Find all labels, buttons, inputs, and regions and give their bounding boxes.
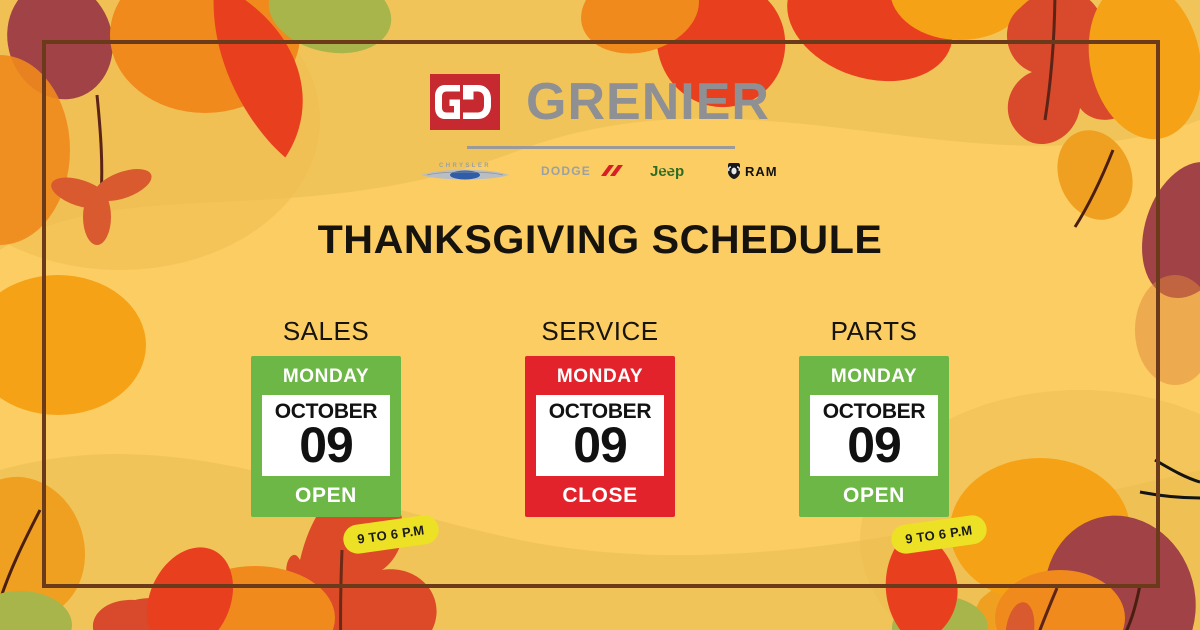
svg-text:CHRYSLER: CHRYSLER — [439, 163, 491, 169]
calendar-sales: MONDAY OCTOBER 09 OPEN — [251, 356, 401, 517]
status-badge-parts: OPEN — [843, 484, 905, 508]
schedule-card-parts: PARTS MONDAY OCTOBER 09 OPEN 9 TO 6 P.M — [769, 316, 979, 517]
brand-ram: RAM — [721, 161, 783, 181]
hours-badge-sales: 9 TO 6 P.M — [342, 513, 441, 555]
calendar-service: MONDAY OCTOBER 09 CLOSE — [525, 356, 675, 517]
brand-chrysler: CHRYSLER — [417, 160, 513, 182]
svg-text:RAM: RAM — [745, 164, 778, 179]
department-label-sales: SALES — [283, 316, 369, 347]
dodge-stripes-icon: DODGE — [539, 162, 623, 180]
dealership-logo: GRENIER — [0, 74, 1200, 130]
calendar-day-sales: MONDAY — [283, 366, 369, 388]
schedule-card-sales: SALES MONDAY OCTOBER 09 OPEN 9 TO 6 P.M — [221, 316, 431, 517]
brand-dodge: DODGE — [539, 162, 623, 180]
calendar-date-box-parts: OCTOBER 09 — [810, 395, 938, 476]
status-badge-sales: OPEN — [295, 484, 357, 508]
chrysler-wing-icon: CHRYSLER — [417, 160, 513, 182]
schedule-cards: SALES MONDAY OCTOBER 09 OPEN 9 TO 6 P.M … — [0, 316, 1200, 517]
jeep-wordmark-icon: Jeep — [649, 161, 695, 181]
svg-text:Jeep: Jeep — [650, 163, 684, 180]
department-label-parts: PARTS — [831, 316, 918, 347]
brand-jeep: Jeep — [649, 161, 695, 181]
calendar-daynum-sales: 09 — [299, 421, 353, 470]
promo-banner: GRENIER CHRYSLER DODGE — [0, 0, 1200, 630]
calendar-date-box-service: OCTOBER 09 — [536, 395, 664, 476]
hours-badge-parts: 9 TO 6 P.M — [890, 513, 989, 555]
calendar-parts: MONDAY OCTOBER 09 OPEN — [799, 356, 949, 517]
calendar-daynum-service: 09 — [573, 421, 627, 470]
calendar-date-box-sales: OCTOBER 09 — [262, 395, 390, 476]
status-badge-service: CLOSE — [562, 484, 637, 508]
schedule-card-service: SERVICE MONDAY OCTOBER 09 CLOSE — [495, 316, 705, 517]
ram-head-icon: RAM — [721, 161, 783, 181]
department-label-service: SERVICE — [541, 316, 658, 347]
svg-text:DODGE: DODGE — [541, 164, 591, 178]
calendar-day-parts: MONDAY — [831, 366, 917, 388]
logo-divider — [467, 146, 735, 149]
gd-monogram-icon — [430, 74, 500, 130]
oem-brand-strip: CHRYSLER DODGE Jeep — [0, 160, 1200, 182]
calendar-daynum-parts: 09 — [847, 421, 901, 470]
calendar-day-service: MONDAY — [557, 366, 643, 388]
brand-name: GRENIER — [526, 76, 770, 128]
page-title: THANKSGIVING SCHEDULE — [0, 218, 1200, 263]
